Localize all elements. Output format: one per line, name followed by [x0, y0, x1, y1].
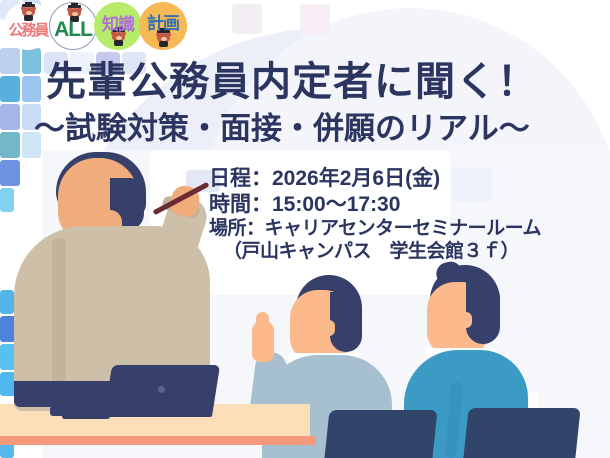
event-poster: 公務員ALL知識計画 先輩公務員内定者に聞く！ 〜試験対策・面接・併願のリアル〜…: [0, 0, 610, 458]
badge-row: 公務員ALL知識計画: [4, 1, 184, 51]
student-b-hair-front: [466, 282, 500, 344]
badge-label: ALL: [54, 19, 92, 40]
student-a-ear: [323, 320, 335, 336]
badge-4: 計画: [139, 2, 187, 50]
detail-place: 場所：キャリアセンターセミナールーム: [209, 217, 541, 240]
detail-place-2: （戸山キャンパス 学生会館３ｆ）: [209, 240, 541, 263]
bear-mascot-icon: [21, 3, 36, 20]
badge-2: ALL: [49, 2, 97, 50]
page-subtitle: 〜試験対策・面接・併願のリアル〜: [34, 113, 530, 144]
detail-date: 日程：2026年2月6日(金): [209, 166, 541, 192]
badge-label: 計画: [147, 15, 179, 32]
badge-1: 公務員: [4, 2, 52, 50]
laptop-student-b: [463, 408, 580, 458]
student-b-ear: [460, 312, 472, 328]
badge-label: 公務員: [8, 23, 47, 38]
laptop-presenter-logo: [158, 386, 165, 393]
page-title: 先輩公務員内定者に聞く！: [46, 62, 538, 102]
student-a-hair-front: [330, 292, 362, 352]
desk-edge: [0, 436, 316, 445]
student-a-pointing-finger: [256, 312, 269, 338]
event-details: 日程：2026年2月6日(金) 時間：15:00〜17:30 場所：キャリアセン…: [209, 166, 541, 264]
laptop-student-a: [324, 410, 437, 458]
badge-label: 知識: [102, 16, 134, 33]
badge-3: 知識: [94, 2, 142, 50]
laptop-presenter-base-front: [62, 414, 110, 419]
detail-time: 時間：15:00〜17:30: [209, 192, 541, 218]
